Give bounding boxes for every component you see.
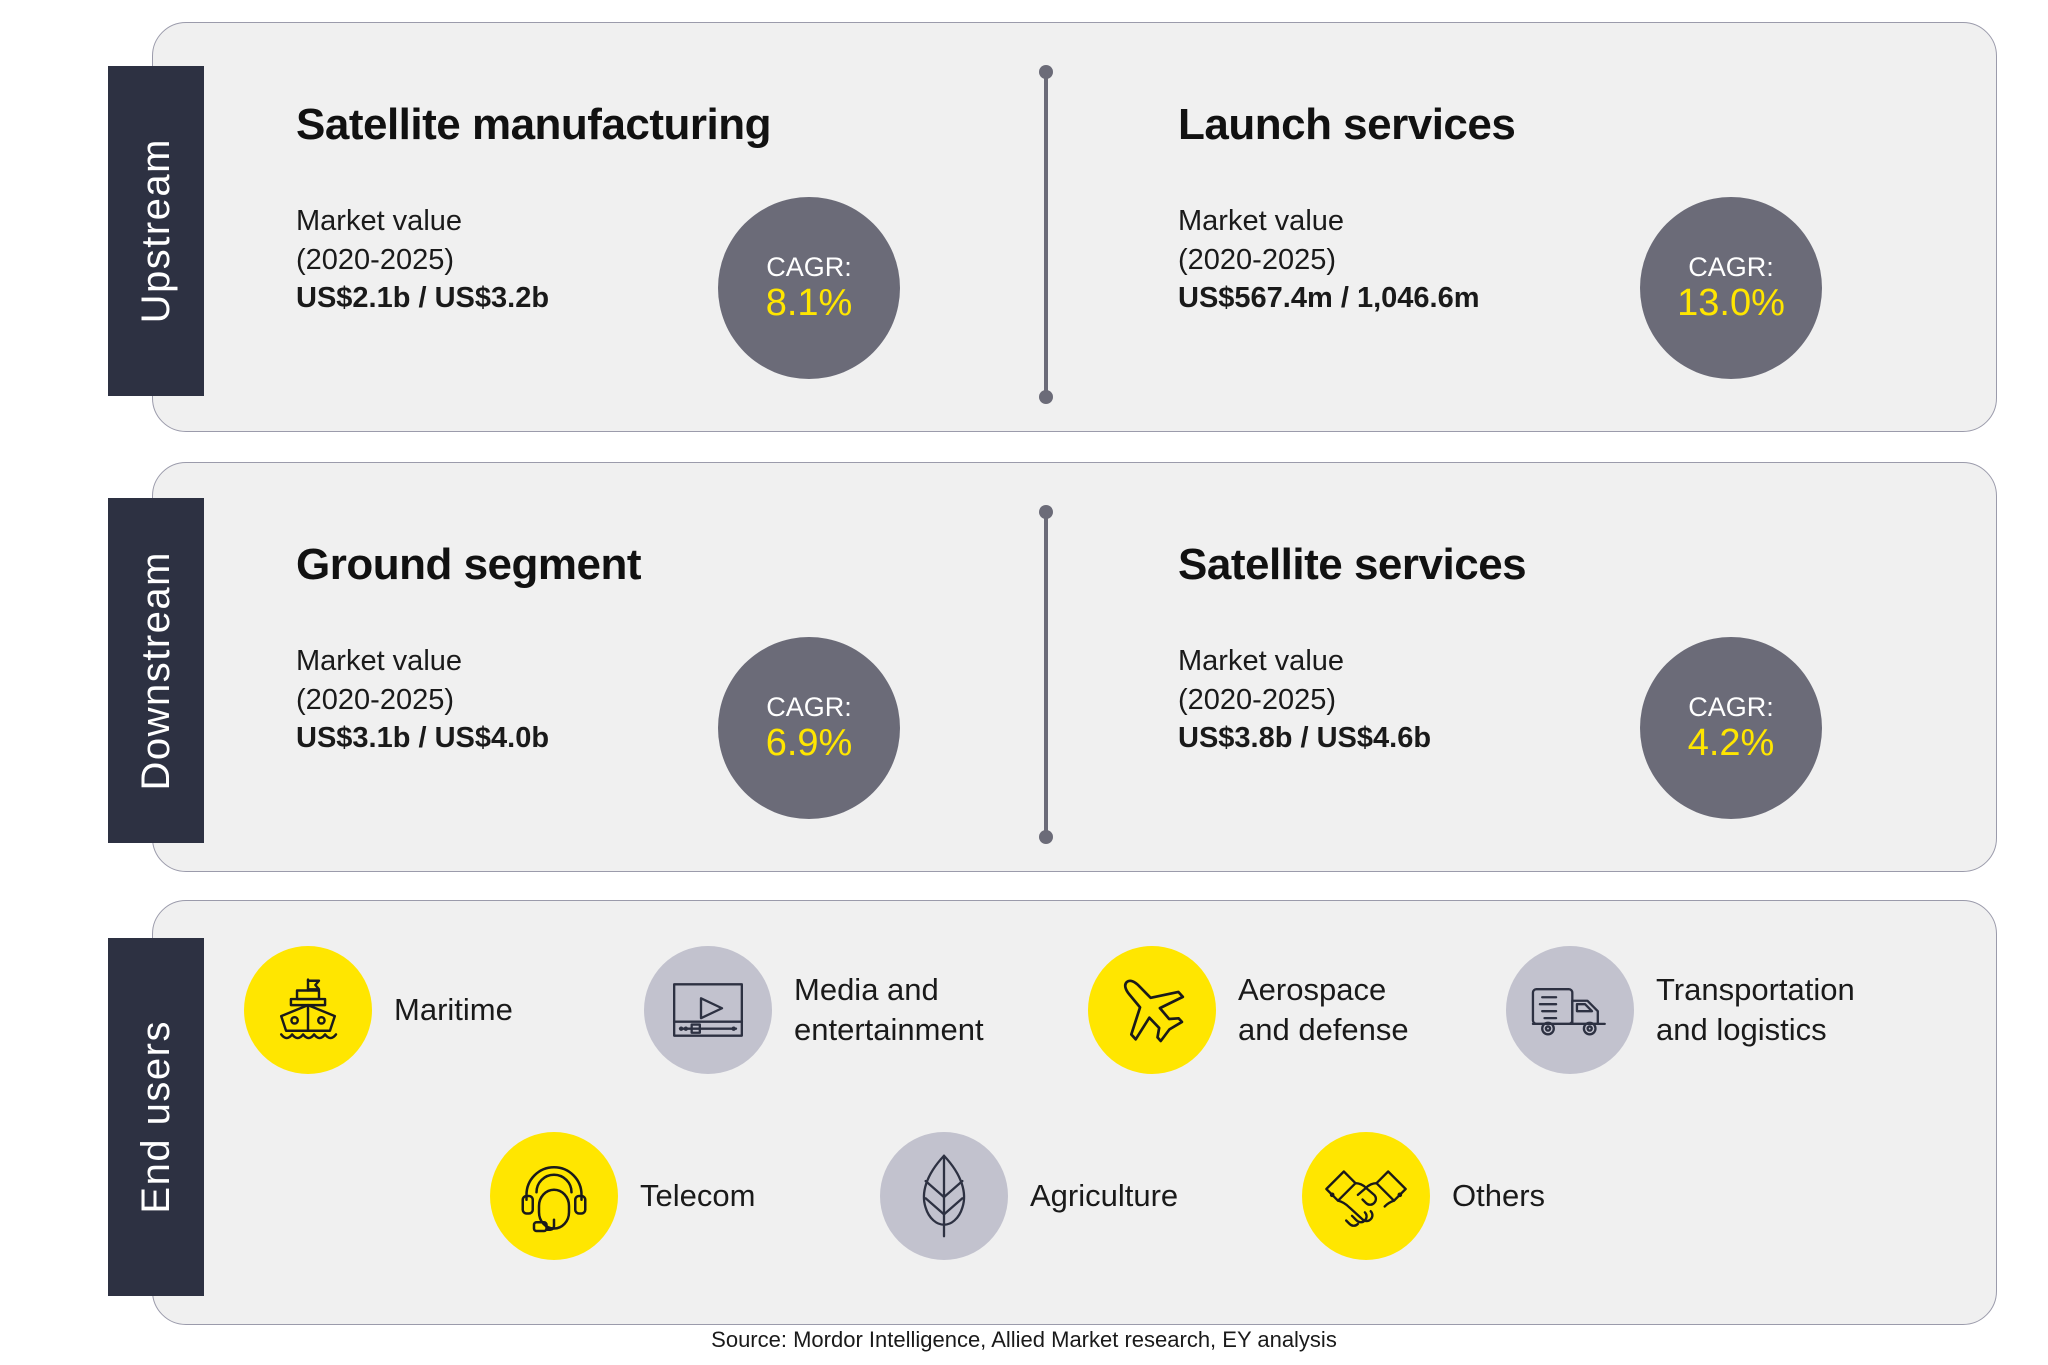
end-user-label: Telecom: [640, 1176, 755, 1216]
row-tab-upstream-label: Upstream: [134, 138, 179, 323]
end-user-label: Transportation and logistics: [1656, 970, 1855, 1049]
segment-launch-services: Launch services Market value (2020-2025)…: [1178, 100, 1515, 318]
segment-title: Ground segment: [296, 540, 641, 590]
segment-title: Satellite services: [1178, 540, 1526, 590]
segment-metrics: Market value (2020-2025) US$2.1b / US$3.…: [296, 202, 771, 318]
market-value-amount: US$3.1b / US$4.0b: [296, 719, 641, 758]
infographic-canvas: Upstream Satellite manufacturing Market …: [0, 0, 2048, 1365]
headset-icon: [490, 1132, 618, 1260]
row-tab-downstream-label: Downstream: [134, 551, 179, 791]
end-user-label: Agriculture: [1030, 1176, 1178, 1216]
leaf-icon: [880, 1132, 1008, 1260]
end-user-transportation-and-logistics[interactable]: Transportation and logistics: [1506, 946, 1855, 1074]
market-value-period: (2020-2025): [296, 241, 771, 280]
row-tab-end-users-label: End users: [134, 1020, 179, 1214]
segment-title: Satellite manufacturing: [296, 100, 771, 150]
market-value-label: Market value: [296, 642, 641, 681]
market-value-amount: US$2.1b / US$3.2b: [296, 279, 771, 318]
row-tab-end-users: End users: [108, 938, 204, 1296]
end-user-media-and-entertainment[interactable]: Media and entertainment: [644, 946, 984, 1074]
cagr-bubble-launch-services: CAGR: 13.0%: [1640, 197, 1822, 379]
cagr-label: CAGR:: [766, 252, 852, 282]
cagr-value: 8.1%: [766, 282, 853, 325]
market-value-period: (2020-2025): [296, 681, 641, 720]
market-value-period: (2020-2025): [1178, 681, 1526, 720]
end-user-agriculture[interactable]: Agriculture: [880, 1132, 1178, 1260]
end-user-maritime[interactable]: Maritime: [244, 946, 513, 1074]
market-value-amount: US$3.8b / US$4.6b: [1178, 719, 1526, 758]
segment-title: Launch services: [1178, 100, 1515, 150]
end-user-label: Maritime: [394, 990, 513, 1030]
end-user-aerospace-and-defense[interactable]: Aerospace and defense: [1088, 946, 1409, 1074]
handshake-icon: [1302, 1132, 1430, 1260]
column-divider-upstream: [1044, 72, 1048, 397]
row-tab-upstream: Upstream: [108, 66, 204, 396]
end-user-label: Media and entertainment: [794, 970, 984, 1049]
end-user-label: Aerospace and defense: [1238, 970, 1409, 1049]
cagr-bubble-satellite-manufacturing: CAGR: 8.1%: [718, 197, 900, 379]
market-value-period: (2020-2025): [1178, 241, 1515, 280]
cagr-value: 4.2%: [1688, 722, 1775, 765]
cagr-value: 13.0%: [1677, 282, 1785, 325]
end-user-telecom[interactable]: Telecom: [490, 1132, 755, 1260]
ship-icon: [244, 946, 372, 1074]
end-user-others[interactable]: Others: [1302, 1132, 1545, 1260]
cagr-label: CAGR:: [1688, 252, 1774, 282]
segment-metrics: Market value (2020-2025) US$3.8b / US$4.…: [1178, 642, 1526, 758]
source-note: Source: Mordor Intelligence, Allied Mark…: [0, 1327, 2048, 1353]
row-tab-downstream: Downstream: [108, 498, 204, 843]
airplane-icon: [1088, 946, 1216, 1074]
market-value-label: Market value: [296, 202, 771, 241]
market-value-label: Market value: [1178, 202, 1515, 241]
segment-metrics: Market value (2020-2025) US$567.4m / 1,0…: [1178, 202, 1515, 318]
segment-satellite-services: Satellite services Market value (2020-20…: [1178, 540, 1526, 758]
cagr-bubble-satellite-services: CAGR: 4.2%: [1640, 637, 1822, 819]
cagr-label: CAGR:: [1688, 692, 1774, 722]
market-value-amount: US$567.4m / 1,046.6m: [1178, 279, 1515, 318]
cagr-value: 6.9%: [766, 722, 853, 765]
segment-satellite-manufacturing: Satellite manufacturing Market value (20…: [296, 100, 771, 318]
truck-icon: [1506, 946, 1634, 1074]
segment-metrics: Market value (2020-2025) US$3.1b / US$4.…: [296, 642, 641, 758]
end-user-label: Others: [1452, 1176, 1545, 1216]
video-icon: [644, 946, 772, 1074]
cagr-label: CAGR:: [766, 692, 852, 722]
segment-ground-segment: Ground segment Market value (2020-2025) …: [296, 540, 641, 758]
cagr-bubble-ground-segment: CAGR: 6.9%: [718, 637, 900, 819]
market-value-label: Market value: [1178, 642, 1526, 681]
column-divider-downstream: [1044, 512, 1048, 837]
